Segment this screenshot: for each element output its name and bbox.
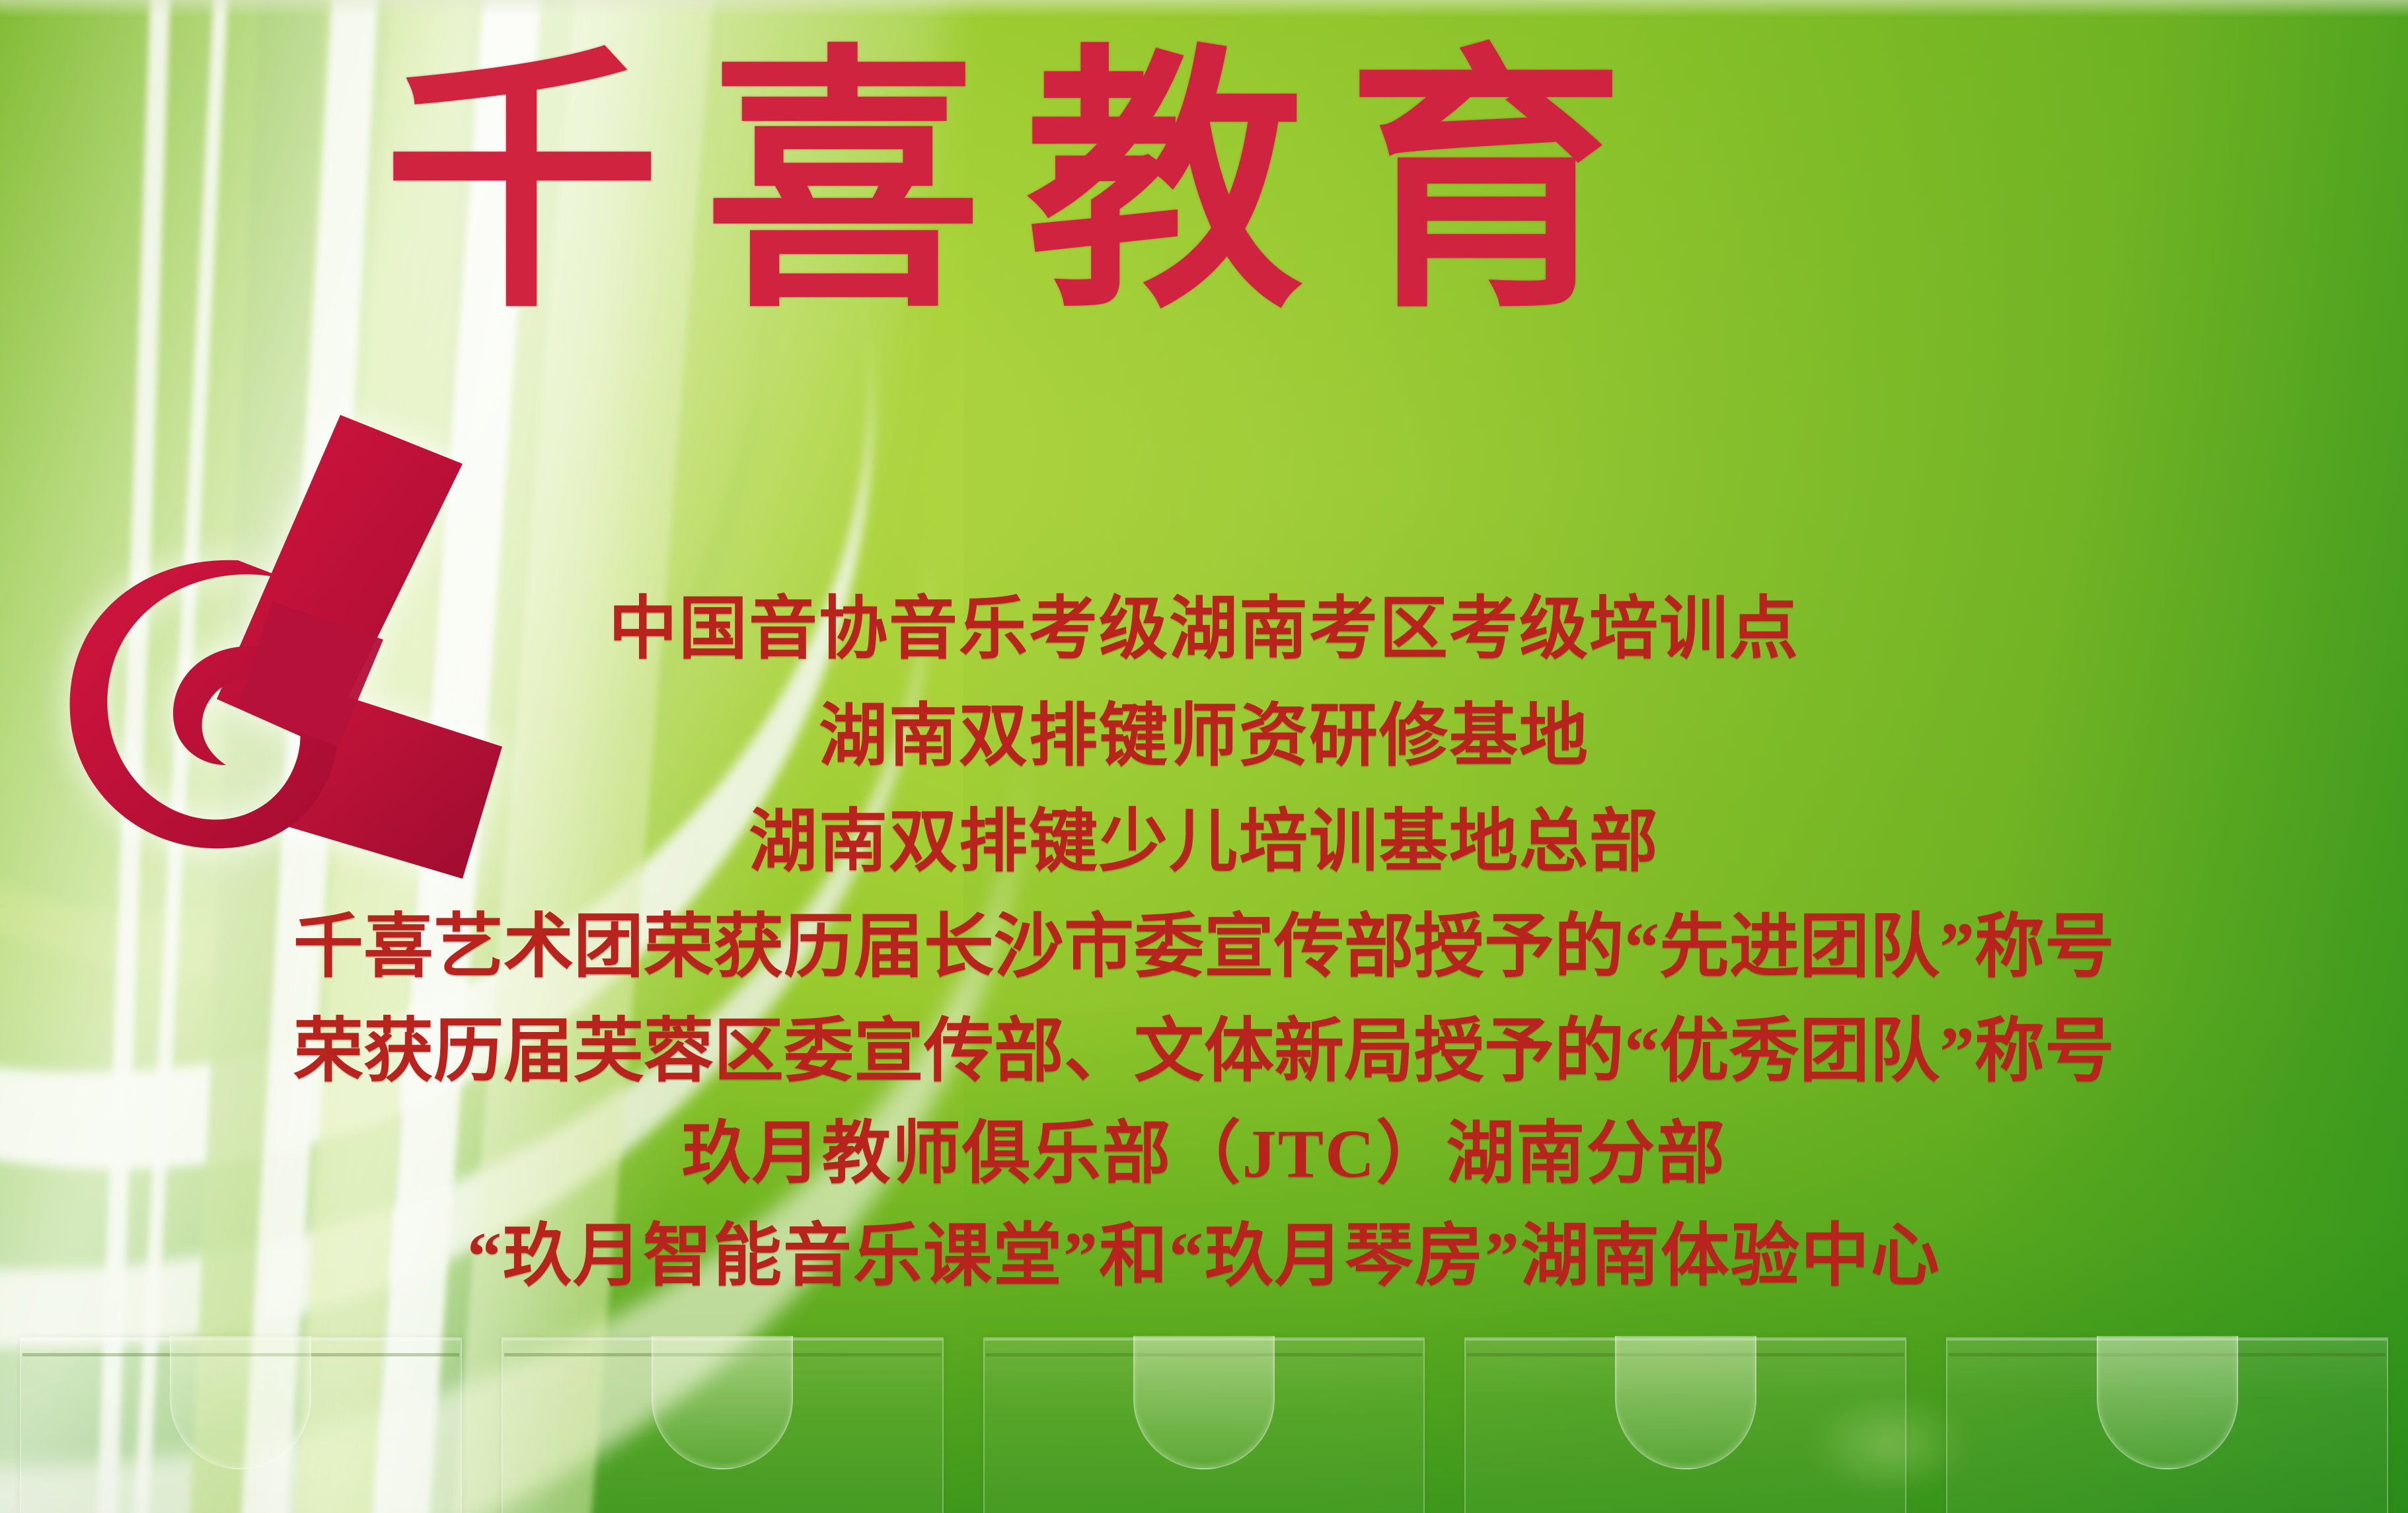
brochure-holder-2[interactable]: [502, 1315, 944, 1513]
credentials-list: 中国音协音乐考级湖南考区考级培训点 湖南双排键师资研修基地 湖南双排键少儿培训基…: [0, 595, 2408, 1292]
credential-line-3: 湖南双排键少儿培训基地总部: [0, 807, 2408, 877]
credential-line-1: 中国音协音乐考级湖南考区考级培训点: [0, 595, 2408, 665]
credential-line-2: 湖南双排键师资研修基地: [0, 702, 2408, 772]
page-title: 千喜教育: [383, 48, 1771, 325]
credential-line-5: 荣获历届芙蓉区委宣传部、文体新局授予的“优秀团队”称号: [0, 1016, 2408, 1088]
brochure-holder-row: [0, 1315, 2408, 1513]
brochure-holder-4[interactable]: [1464, 1315, 1906, 1513]
brochure-holder-5[interactable]: [1946, 1315, 2388, 1513]
credential-line-6: 玖月教师俱乐部（JTC）湖南分部: [0, 1119, 2408, 1189]
brochure-holder-1[interactable]: [20, 1315, 462, 1513]
credential-line-4: 千喜艺术团荣获历届长沙市委宣传部授予的“先进团队”称号: [0, 912, 2408, 983]
brochure-holder-3[interactable]: [983, 1315, 1425, 1513]
credential-line-7: “玖月智能音乐课堂”和“玖月琴房”湖南体验中心: [0, 1222, 2408, 1292]
signage-board: 千喜教育 中国音协音乐考级湖南考区考级培训点 湖南双排键师资研修基地 湖南双排键…: [0, 0, 2408, 1513]
